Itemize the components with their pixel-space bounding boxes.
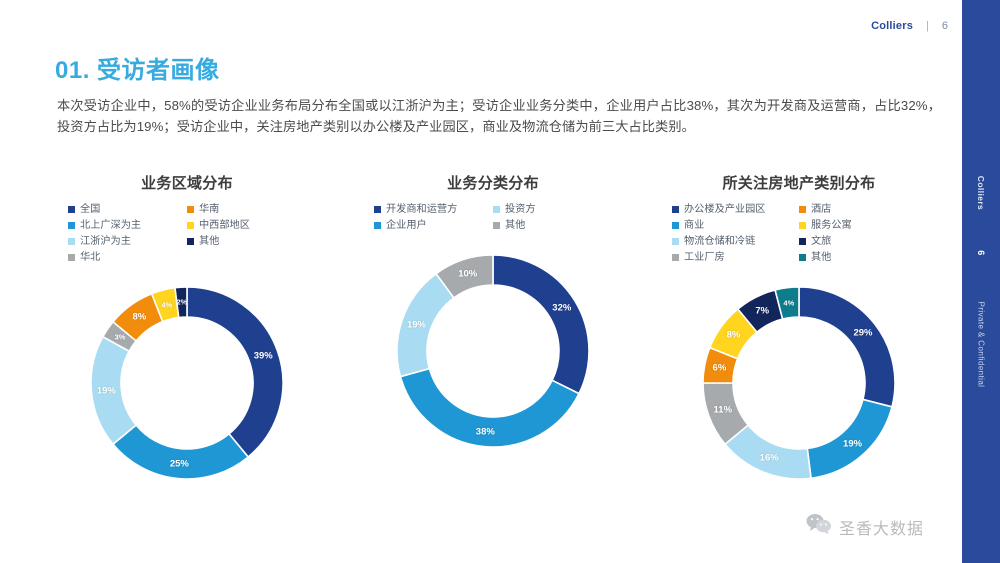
legend-label: 北上广深为主 [80, 219, 141, 232]
legend-label: 开发商和运营方 [386, 203, 457, 216]
legend-label: 江浙沪为主 [80, 235, 131, 248]
legend-swatch [672, 222, 679, 229]
legend-label: 企业用户 [386, 219, 427, 232]
body-paragraph: 本次受访企业中，58%的受访企业业务布局分布全国或以江浙沪为主；受访企业业务分类… [57, 95, 941, 137]
legend-item[interactable]: 开发商和运营方 [374, 203, 493, 216]
legend-label: 其他 [505, 219, 525, 232]
legend-item[interactable]: 物流仓储和冷链 [672, 235, 799, 248]
legend-swatch [374, 206, 381, 213]
header-brand: Colliers [871, 20, 913, 32]
chart-title: 业务区域分布 [141, 172, 233, 193]
side-band-brand: Colliers [976, 176, 986, 210]
legend-label: 文旅 [811, 235, 831, 248]
legend-item[interactable]: 投资方 [493, 203, 612, 216]
charts-row: 业务区域分布 全国华南北上广深为主中西部地区江浙沪为主其他华北 39%25%19… [34, 172, 952, 547]
donut-slice[interactable] [400, 369, 579, 447]
donut-slice[interactable] [187, 287, 283, 457]
side-band-confidential: Private & Confidential [977, 302, 986, 388]
legend-label: 办公楼及产业园区 [684, 203, 766, 216]
legend-swatch [68, 206, 75, 213]
legend-swatch [187, 238, 194, 245]
donut-slice[interactable] [113, 425, 248, 479]
legend-label: 中西部地区 [199, 219, 250, 232]
legend-item[interactable]: 其他 [493, 219, 612, 232]
page-header: Colliers | 6 [871, 20, 948, 32]
legend-item[interactable]: 服务公寓 [799, 219, 926, 232]
chart-title: 所关注房地产类别分布 [722, 172, 875, 193]
chart-title: 业务分类分布 [447, 172, 539, 193]
legend-label: 全国 [80, 203, 100, 216]
legend-label: 投资方 [505, 203, 536, 216]
legend-item[interactable]: 其他 [187, 235, 306, 248]
legend-swatch [672, 238, 679, 245]
donut-chart: 39%25%19%3%8%4%2% [74, 270, 300, 496]
page-title: 01. 受访者画像 [55, 50, 220, 85]
legend-swatch [187, 222, 194, 229]
legend-swatch [799, 206, 806, 213]
wechat-icon [806, 513, 832, 540]
donut-slice[interactable] [493, 255, 589, 394]
chart-panel-region: 业务区域分布 全国华南北上广深为主中西部地区江浙沪为主其他华北 39%25%19… [34, 172, 340, 547]
legend-swatch [374, 222, 381, 229]
watermark-text: 圣香大数据 [839, 515, 924, 539]
side-brand-band: Colliers 6 Private & Confidential [962, 0, 1000, 563]
legend-swatch [493, 206, 500, 213]
legend-item[interactable]: 其他 [799, 251, 926, 264]
header-page-number: 6 [942, 20, 948, 32]
legend-label: 服务公寓 [811, 219, 852, 232]
legend-swatch [493, 222, 500, 229]
side-band-page-number: 6 [976, 250, 986, 255]
legend-item[interactable]: 文旅 [799, 235, 926, 248]
donut-chart: 29%19%16%11%6%8%7%4% [686, 270, 912, 496]
chart-panel-asset-type: 所关注房地产类别分布 办公楼及产业园区酒店商业服务公寓物流仓储和冷链文旅工业厂房… [646, 172, 952, 547]
chart-legend: 开发商和运营方投资方企业用户其他 [374, 203, 612, 232]
legend-label: 商业 [684, 219, 704, 232]
legend-item[interactable]: 北上广深为主 [68, 219, 187, 232]
legend-item[interactable]: 华南 [187, 203, 306, 216]
watermark: 圣香大数据 [806, 513, 924, 540]
legend-item[interactable]: 酒店 [799, 203, 926, 216]
slide-page: Colliers 6 Private & Confidential Collie… [0, 0, 1000, 563]
chart-legend: 全国华南北上广深为主中西部地区江浙沪为主其他华北 [68, 203, 306, 264]
donut-slice[interactable] [91, 337, 136, 444]
legend-swatch [799, 254, 806, 261]
legend-label: 物流仓储和冷链 [684, 235, 755, 248]
legend-swatch [799, 222, 806, 229]
legend-swatch [68, 254, 75, 261]
donut-slice[interactable] [799, 287, 895, 407]
legend-swatch [672, 206, 679, 213]
legend-swatch [799, 238, 806, 245]
legend-label: 华南 [199, 203, 219, 216]
legend-swatch [672, 254, 679, 261]
legend-item[interactable]: 中西部地区 [187, 219, 306, 232]
legend-item[interactable]: 江浙沪为主 [68, 235, 187, 248]
legend-item[interactable]: 办公楼及产业园区 [672, 203, 799, 216]
legend-label: 酒店 [811, 203, 831, 216]
legend-swatch [68, 238, 75, 245]
donut-slice[interactable] [807, 399, 892, 478]
legend-item[interactable]: 商业 [672, 219, 799, 232]
legend-item[interactable]: 工业厂房 [672, 251, 799, 264]
header-separator: | [926, 20, 929, 32]
donut-slice[interactable] [397, 274, 454, 377]
legend-item[interactable]: 全国 [68, 203, 187, 216]
legend-label: 华北 [80, 251, 100, 264]
chart-panel-category: 业务分类分布 开发商和运营方投资方企业用户其他 32%38%19%10% [340, 172, 646, 547]
legend-label: 其他 [811, 251, 831, 264]
legend-item[interactable]: 企业用户 [374, 219, 493, 232]
legend-swatch [187, 206, 194, 213]
legend-item[interactable]: 华北 [68, 251, 187, 264]
legend-label: 其他 [199, 235, 219, 248]
donut-chart: 32%38%19%10% [380, 238, 606, 464]
legend-label: 工业厂房 [684, 251, 725, 264]
legend-swatch [68, 222, 75, 229]
chart-legend: 办公楼及产业园区酒店商业服务公寓物流仓储和冷链文旅工业厂房其他 [672, 203, 926, 264]
